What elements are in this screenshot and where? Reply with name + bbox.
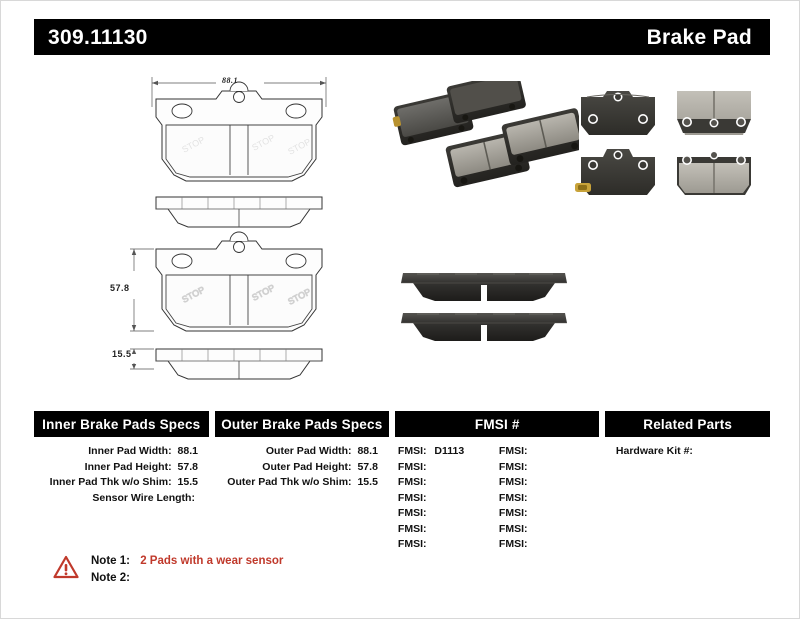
brake-pad-edge-pair-photo: [389, 261, 579, 351]
fmsi-row: FMSI: D1113: [398, 444, 499, 460]
fmsi-row: FMSI:: [398, 537, 499, 553]
fmsi-label: FMSI:: [398, 461, 427, 473]
brake-pad-set-angled-photo: [389, 81, 579, 206]
technical-drawings: STOP STOP STOP: [104, 63, 394, 383]
fmsi-label: FMSI:: [499, 445, 528, 457]
spec-row: Inner Pad Thk w/o Shim: 15.5: [34, 475, 198, 491]
outer-specs-column: Outer Pad Width: 88.1 Outer Pad Height: …: [214, 444, 388, 553]
specs-table: Inner Brake Pads Specs Outer Brake Pads …: [34, 411, 770, 553]
fmsi-label: FMSI:: [499, 476, 528, 488]
spec-label: Inner Pad Width:: [88, 445, 171, 457]
fmsi-row: FMSI:: [398, 506, 499, 522]
fmsi-label: FMSI:: [499, 523, 528, 535]
spec-row: Outer Pad Thk w/o Shim: 15.5: [214, 475, 378, 491]
fmsi-row: FMSI:: [499, 506, 600, 522]
fmsi-label: FMSI:: [499, 461, 528, 473]
fmsi-label: FMSI:: [499, 492, 528, 504]
spec-label: Inner Pad Height:: [85, 461, 172, 473]
fmsi-row: FMSI:: [499, 460, 600, 476]
notes-section: Note 1: 2 Pads with a wear sensor Note 2…: [53, 551, 283, 587]
spec-value: 15.5: [357, 476, 377, 488]
spec-row: [214, 491, 378, 507]
fmsi-label: FMSI:: [398, 445, 427, 457]
fmsi-label: FMSI:: [499, 507, 528, 519]
product-spec-sheet: 309.11130 Brake Pad: [0, 0, 800, 619]
spec-value: 88.1: [357, 445, 377, 457]
fmsi-row: FMSI:: [499, 522, 600, 538]
fmsi-column: FMSI: D1113 FMSI: FMSI: FMSI:: [394, 444, 600, 553]
spec-row: Sensor Wire Length:: [34, 491, 198, 507]
fmsi-label: FMSI:: [499, 538, 528, 550]
note-lines: Note 1: 2 Pads with a wear sensor Note 2…: [91, 551, 283, 587]
note-2-row: Note 2:: [91, 570, 283, 587]
note-1-label: Note 1:: [91, 555, 130, 567]
wear-sensor-clip: [575, 183, 591, 192]
related-part-label: Hardware Kit #:: [616, 445, 693, 457]
warning-triangle-icon: [53, 555, 79, 579]
inner-specs-column: Inner Pad Width: 88.1 Inner Pad Height: …: [34, 444, 208, 553]
specs-table-body-row: Inner Pad Width: 88.1 Inner Pad Height: …: [34, 444, 770, 553]
spec-value: 88.1: [178, 445, 198, 457]
spec-row: Outer Pad Height: 57.8: [214, 460, 378, 476]
fmsi-row: FMSI:: [398, 522, 499, 538]
spec-value: 15.5: [178, 476, 198, 488]
fmsi-subcolumn-2: FMSI: FMSI: FMSI: FMSI:: [499, 444, 600, 553]
dimension-label-width: 88.1: [222, 76, 238, 85]
specs-table-header-row: Inner Brake Pads Specs Outer Brake Pads …: [34, 411, 770, 437]
fmsi-row: FMSI:: [398, 491, 499, 507]
fmsi-value: D1113: [434, 445, 464, 457]
fmsi-row: FMSI:: [499, 475, 600, 491]
note-2-label: Note 2:: [91, 572, 130, 584]
fmsi-row: FMSI:: [499, 491, 600, 507]
fmsi-row: FMSI:: [499, 444, 600, 460]
fmsi-label: FMSI:: [398, 476, 427, 488]
dimension-label-thickness: 15.5: [112, 349, 132, 359]
fmsi-label: FMSI:: [398, 492, 427, 504]
fmsi-row: FMSI:: [398, 460, 499, 476]
spec-row: Inner Pad Width: 88.1: [34, 444, 198, 460]
related-parts-column: Hardware Kit #:: [606, 444, 770, 553]
spec-value: 57.8: [178, 461, 198, 473]
dimension-label-height: 57.8: [110, 283, 130, 293]
header-related-parts: Related Parts: [605, 411, 770, 437]
page-title: Brake Pad: [647, 27, 752, 48]
spec-row: Inner Pad Height: 57.8: [34, 460, 198, 476]
note-1-value: 2 Pads with a wear sensor: [140, 555, 283, 567]
spec-label: Outer Pad Thk w/o Shim:: [227, 476, 351, 488]
spec-label: Outer Pad Width:: [266, 445, 352, 457]
media-area: STOP STOP STOP: [34, 63, 770, 393]
fmsi-row: FMSI:: [499, 537, 600, 553]
spec-label: Sensor Wire Length:: [92, 492, 195, 504]
header-fmsi: FMSI #: [395, 411, 599, 437]
fmsi-row: FMSI:: [398, 475, 499, 491]
fmsi-label: FMSI:: [398, 523, 427, 535]
part-number: 309.11130: [48, 27, 148, 48]
fmsi-subcolumn-1: FMSI: D1113 FMSI: FMSI: FMSI:: [398, 444, 499, 553]
related-part-row: Hardware Kit #:: [616, 444, 770, 460]
brake-pad-set-flat-photo: [569, 81, 769, 206]
fmsi-label: FMSI:: [398, 538, 427, 550]
note-1-row: Note 1: 2 Pads with a wear sensor: [91, 553, 283, 570]
spec-label: Outer Pad Height:: [262, 461, 351, 473]
fmsi-label: FMSI:: [398, 507, 427, 519]
header-bar: 309.11130 Brake Pad: [34, 19, 770, 55]
spec-label: Inner Pad Thk w/o Shim:: [50, 476, 172, 488]
header-outer-brake-pads-specs: Outer Brake Pads Specs: [215, 411, 390, 437]
spec-value: 57.8: [357, 461, 377, 473]
spec-row: Outer Pad Width: 88.1: [214, 444, 378, 460]
header-inner-brake-pads-specs: Inner Brake Pads Specs: [34, 411, 209, 437]
